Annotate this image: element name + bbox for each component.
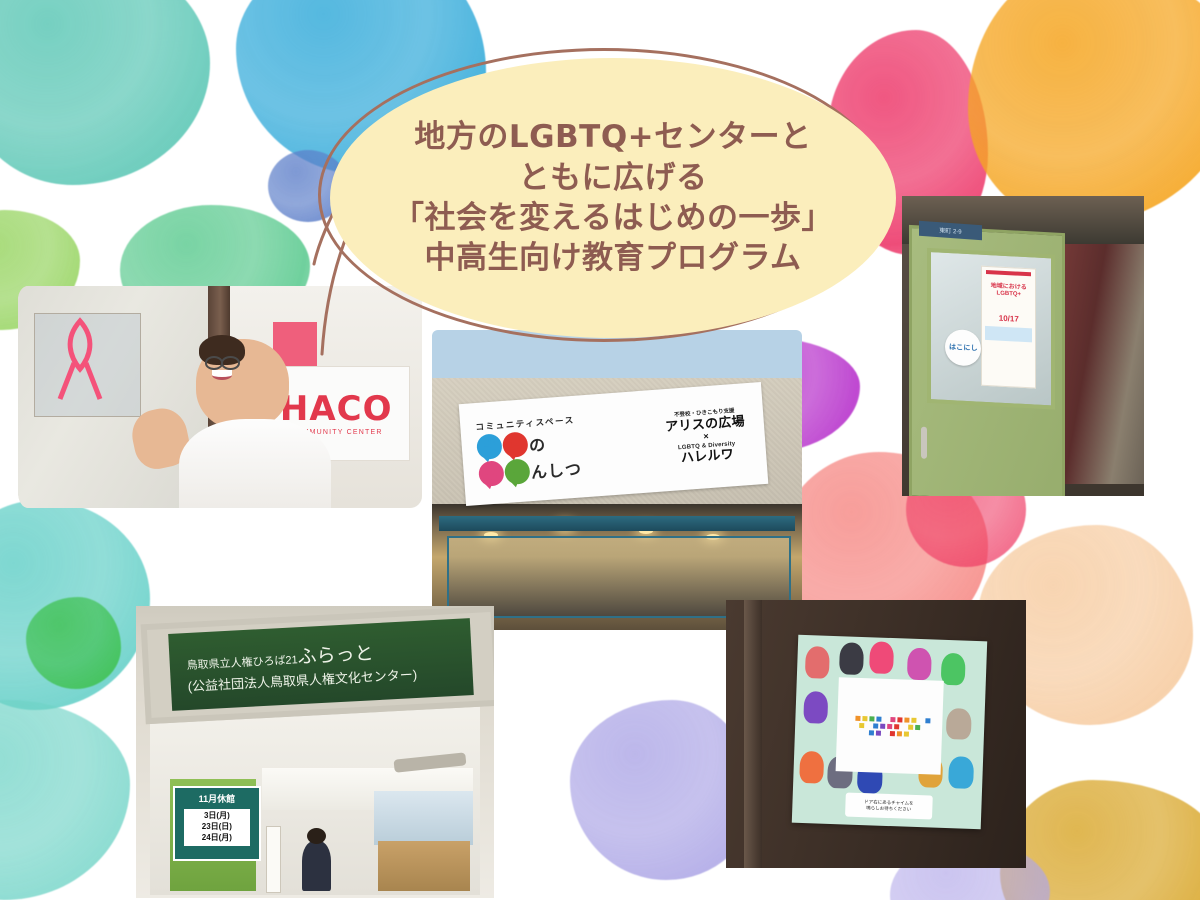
furatto-sign-prefix: 鳥取県立人権ひろば21 bbox=[187, 654, 299, 672]
machi-partners-block: 不登校・ひきこもり支援 アリスの広場 × LGBTQ & Diversity ハ… bbox=[645, 407, 767, 468]
hakonishi-circle-sign: はこにし bbox=[946, 329, 982, 367]
green-door-panel: 地域における LGBTQ+ 10/17 はこにし bbox=[909, 225, 1065, 496]
furatto-green-sign: 鳥取県立人権ひろば21ふらっと (公益社団法人鳥取県人権文化センター) bbox=[168, 618, 474, 711]
hakonishi-label: はこにし bbox=[949, 342, 978, 354]
closure-date: 24日(月) bbox=[184, 833, 250, 844]
person-smile bbox=[212, 370, 232, 380]
furatto-sign-frame: 鳥取県立人権ひろば21ふらっと (公益社団法人鳥取県人権文化センター) bbox=[141, 606, 494, 724]
photo-haco-center: HACO COMMUNITY CENTER bbox=[18, 286, 422, 508]
dotroom-caption-line2: 鳴らしお待ちください bbox=[866, 805, 911, 812]
machi-logo-bubble-ほ: ほ bbox=[478, 460, 505, 487]
closure-notice-dates: 3日(月)23日(日)24日(月) bbox=[184, 809, 250, 845]
haco-person bbox=[184, 339, 394, 508]
furatto-vertical-banner bbox=[266, 826, 281, 894]
person-shirt bbox=[179, 419, 330, 508]
blob-teal-top-left bbox=[0, 0, 210, 185]
colorful-dot-room-poster: ドア右にあるチャイムを 鳴らしお待ちください bbox=[792, 634, 987, 828]
dotroom-title-plate bbox=[835, 677, 944, 774]
dotroom-caption: ドア右にあるチャイムを 鳴らしお待ちください bbox=[845, 792, 933, 819]
poster-canvas: HACO COMMUNITY CENTER コミュニティスペース bbox=[0, 0, 1200, 900]
lgbtq-event-poster: 地域における LGBTQ+ 10/17 bbox=[982, 266, 1037, 388]
machi-logo-bubble-ま: ま bbox=[476, 433, 503, 460]
headline-line-1: 地方のLGBTQ+センターと bbox=[414, 117, 811, 157]
photo-furatto-entrance: 11月休館 3日(月)23日(日)24日(月) 鳥取県立人権ひろば21ふらっと … bbox=[136, 606, 494, 898]
machi-awning bbox=[439, 516, 794, 531]
machi-logo-bubble-け: け bbox=[504, 458, 531, 485]
dotroom-title-row-2 bbox=[859, 722, 920, 729]
door-side-wall bbox=[1057, 220, 1144, 484]
machi-logo-char-の: の bbox=[528, 431, 546, 456]
machi-logo-bubble-ち: ち bbox=[502, 431, 529, 458]
closure-date: 23日(日) bbox=[184, 822, 250, 833]
event-poster-title: 地域における LGBTQ+ bbox=[983, 283, 1036, 300]
furatto-window bbox=[374, 791, 473, 845]
person-head bbox=[196, 339, 288, 429]
event-poster-date: 10/17 bbox=[983, 313, 1036, 325]
speech-bubble: 地方のLGBTQ+センターと ともに広げる 「社会を変えるはじめの一歩」 中高生… bbox=[330, 58, 896, 338]
closure-notice-title: 11月休館 bbox=[199, 792, 236, 805]
photo-machino-hokenshitsu: コミュニティスペース まちの ほけんしつ 不登校・ひきこもり支援 アリスの広場 … bbox=[432, 330, 802, 630]
furatto-green-door: 11月休館 3日(月)23日(日)24日(月) bbox=[170, 779, 256, 891]
blob-teal-left-bottom bbox=[0, 700, 130, 900]
furatto-interior: 11月休館 3日(月)23日(日)24日(月) bbox=[150, 702, 479, 895]
machi-logo-block: コミュニティスペース まちの ほけんしつ bbox=[460, 409, 650, 488]
furatto-sign-big: ふらっと bbox=[297, 643, 374, 668]
dotroom-pixel-title bbox=[835, 677, 944, 774]
glasses-icon bbox=[205, 356, 240, 366]
dotroom-title-row-1 bbox=[849, 715, 931, 723]
machi-logo-char-ん: ん bbox=[530, 457, 548, 482]
machi-logo-char-つ: つ bbox=[564, 455, 582, 480]
dotroom-door-jamb bbox=[744, 600, 762, 868]
furatto-bookshelf bbox=[378, 841, 470, 891]
door-handle bbox=[921, 426, 927, 458]
photo-dot-room-door: ドア右にあるチャイムを 鳴らしお待ちください bbox=[726, 600, 1026, 868]
machi-logo-char-し: し bbox=[547, 456, 565, 481]
dotroom-title-row-3 bbox=[869, 729, 909, 735]
furatto-visitor bbox=[302, 841, 332, 891]
closure-notice: 11月休館 3日(月)23日(日)24日(月) bbox=[173, 786, 261, 861]
headline-line-2: ともに広げる bbox=[519, 158, 708, 198]
pink-ribbon-icon bbox=[50, 317, 110, 403]
door-glass: 地域における LGBTQ+ 10/17 はこにし bbox=[927, 248, 1055, 410]
headline-line-3: 「社会を変えるはじめの一歩」 bbox=[393, 198, 833, 238]
photo-hakonishi-door: 地域における LGBTQ+ 10/17 はこにし 東町 2-9 bbox=[902, 196, 1144, 496]
headline-line-4: 中高生向け教育プログラム bbox=[424, 238, 801, 278]
closure-date: 3日(月) bbox=[184, 811, 250, 822]
blob-orange-top-right bbox=[968, 0, 1200, 225]
